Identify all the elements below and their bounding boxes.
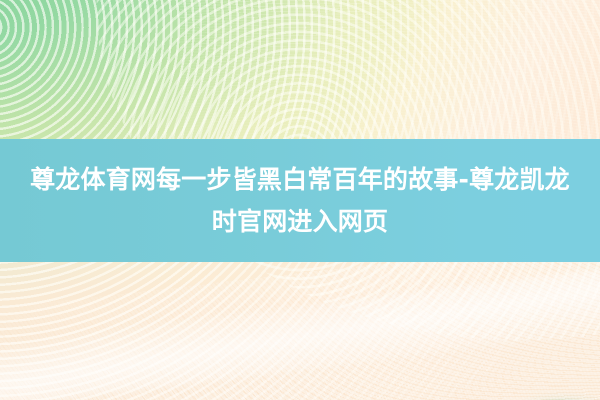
- banner-title-line-2: 时官网进入网页: [212, 201, 388, 243]
- banner-title-line-1: 尊龙体育网每一步皆黑白常百年的故事-尊龙凯龙: [30, 159, 570, 201]
- banner-graphic: 尊龙体育网每一步皆黑白常百年的故事-尊龙凯龙 时官网进入网页: [0, 0, 600, 400]
- title-banner: 尊龙体育网每一步皆黑白常百年的故事-尊龙凯龙 时官网进入网页: [0, 139, 600, 262]
